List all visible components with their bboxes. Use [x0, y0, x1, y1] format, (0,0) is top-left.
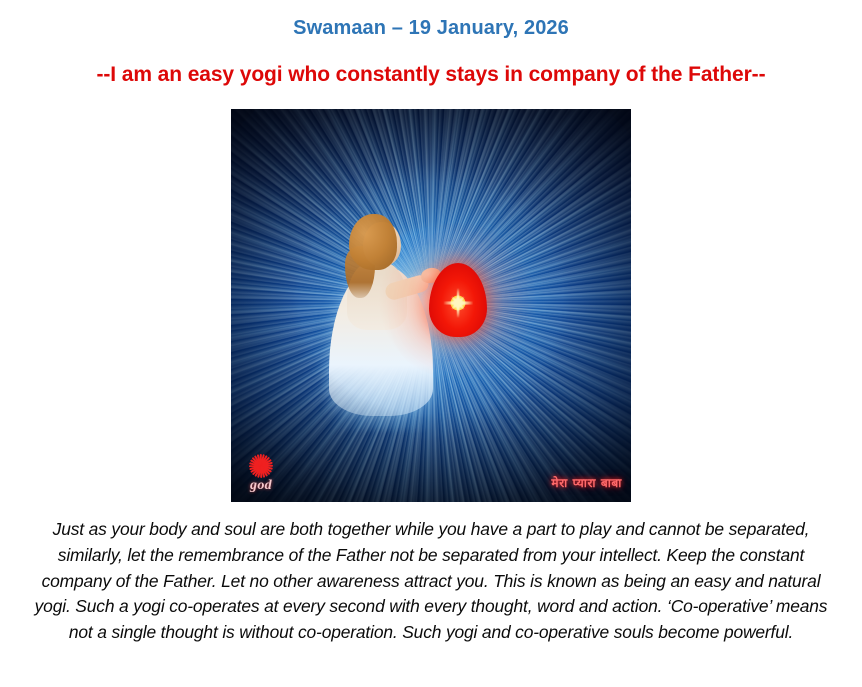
hindi-caption: मेरा प्यारा बाबा [551, 476, 622, 490]
page-subtitle: --I am an easy yogi who constantly stays… [0, 63, 862, 87]
illustration-image: god मेरा प्यारा बाबा [231, 109, 631, 502]
god-logo-label: god [240, 479, 282, 493]
body-paragraph: Just as your body and soul are both toge… [31, 517, 831, 646]
illustration-vignette [231, 109, 631, 502]
god-logo: god [240, 454, 282, 494]
starburst-icon [249, 454, 273, 478]
slide-page: Swamaan – 19 January, 2026 --I am an eas… [0, 0, 862, 687]
page-title: Swamaan – 19 January, 2026 [0, 17, 862, 40]
